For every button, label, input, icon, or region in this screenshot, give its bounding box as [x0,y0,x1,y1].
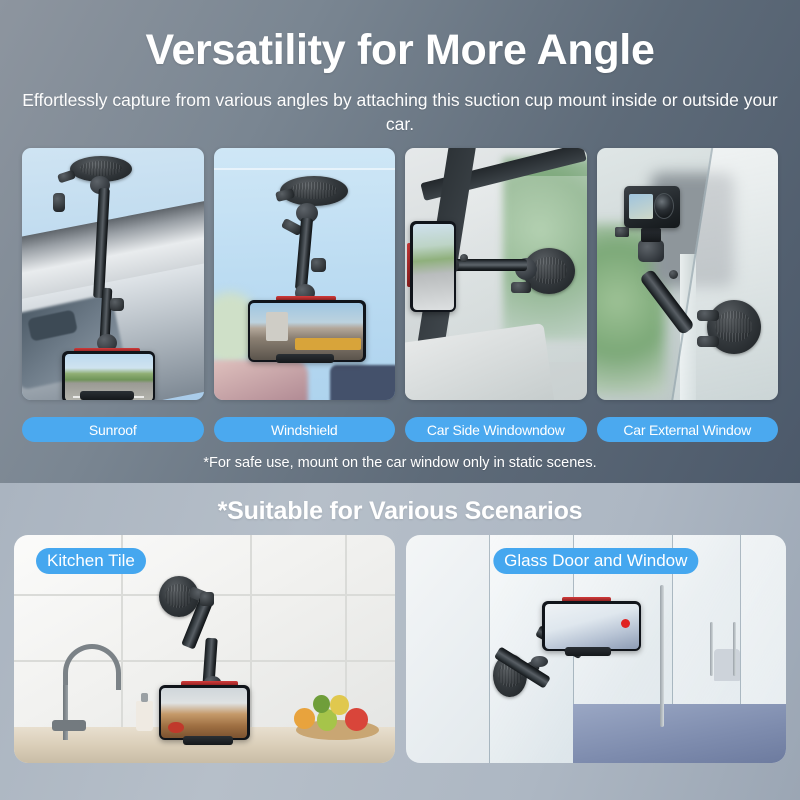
phone-screen-cooking [161,688,247,738]
arm-adjust-knob [460,254,468,262]
photo-label-row: Sunroof Windshield Car Side Windowndow C… [22,417,778,442]
lock-lever [511,282,531,293]
page-title: Versatility for More Angle [0,26,800,75]
pole-adjust-knob [110,298,124,311]
cup-lever-b [697,336,719,347]
photo-card-car-external-window[interactable] [597,148,779,400]
scenario-card-glass-door[interactable]: Glass Door and Window [406,535,787,763]
mounted-phone [248,300,366,362]
scenario-card-kitchen[interactable]: Kitchen Tile [14,535,395,763]
safety-footnote: *For safe use, mount on the car window o… [0,455,800,471]
label-sunroof[interactable]: Sunroof [22,417,204,442]
scenarios-section: *Suitable for Various Scenarios [0,483,800,800]
car-mount-section: Versatility for More Angle Effortlessly … [0,0,800,483]
photo-card-car-side-window[interactable] [405,148,587,400]
clamp-bottom [276,354,334,363]
door-handle-2 [733,622,737,677]
faucet-stem [63,685,68,740]
faucet-handle [52,720,86,731]
phone-screen-city [250,303,363,360]
mounted-phone [542,601,641,651]
fruit-orange [294,708,315,729]
office-floor [573,704,786,763]
camera-side-tab [615,227,629,237]
phone-screen-street [413,224,454,310]
photo-grid [22,148,778,400]
fruit-apple-red [345,708,368,731]
label-windshield[interactable]: Windshield [214,417,396,442]
door-handle-1 [710,622,714,677]
arm-adjust-knob [200,592,213,606]
camera-lens-icon [654,193,674,219]
phone-screen-office [545,604,639,649]
camera-screen [629,194,653,219]
windshield-glass-edge [214,168,396,170]
scenarios-title: *Suitable for Various Scenarios [0,497,800,526]
cup-lever-a [697,310,719,321]
action-camera [624,186,680,228]
arm-knob [669,270,678,279]
scenario-grid: Kitchen Tile [14,535,786,763]
fruit-green-top [313,695,330,713]
photo-card-windshield[interactable] [214,148,396,400]
clamp-bottom [183,736,232,745]
photo-card-sunroof[interactable] [22,148,204,400]
lock-lever-upper [53,193,65,212]
soap-dispenser [136,701,153,731]
label-car-side-window[interactable]: Car Side Windowndow [405,417,587,442]
clamp-bottom [565,647,611,656]
suction-cup-ridge [80,161,122,176]
record-indicator-icon [621,619,630,628]
mounted-phone [410,221,456,312]
car-seat-blur [330,365,395,400]
camera-mount-joint [638,240,664,262]
dashboard-blur [214,360,308,400]
label-glass-door-and-window[interactable]: Glass Door and Window [493,548,698,574]
office-chair [714,649,741,681]
grout-line-v2 [250,535,252,727]
label-kitchen-tile[interactable]: Kitchen Tile [36,548,146,574]
door-post [660,585,664,726]
page-subtitle: Effortlessly capture from various angles… [22,88,778,136]
suction-cup-ridge [290,182,336,199]
suction-cup-ridge [715,311,752,342]
label-car-external-window[interactable]: Car External Window [597,417,779,442]
gopro-finger-mount [641,228,661,242]
mounted-phone [159,685,250,740]
fruit-pear [330,695,349,716]
pole-adjust-knob [311,258,326,272]
faucet-arc [63,644,120,690]
promo-page: Versatility for More Angle Effortlessly … [0,0,800,800]
clamp-bottom [80,391,134,400]
